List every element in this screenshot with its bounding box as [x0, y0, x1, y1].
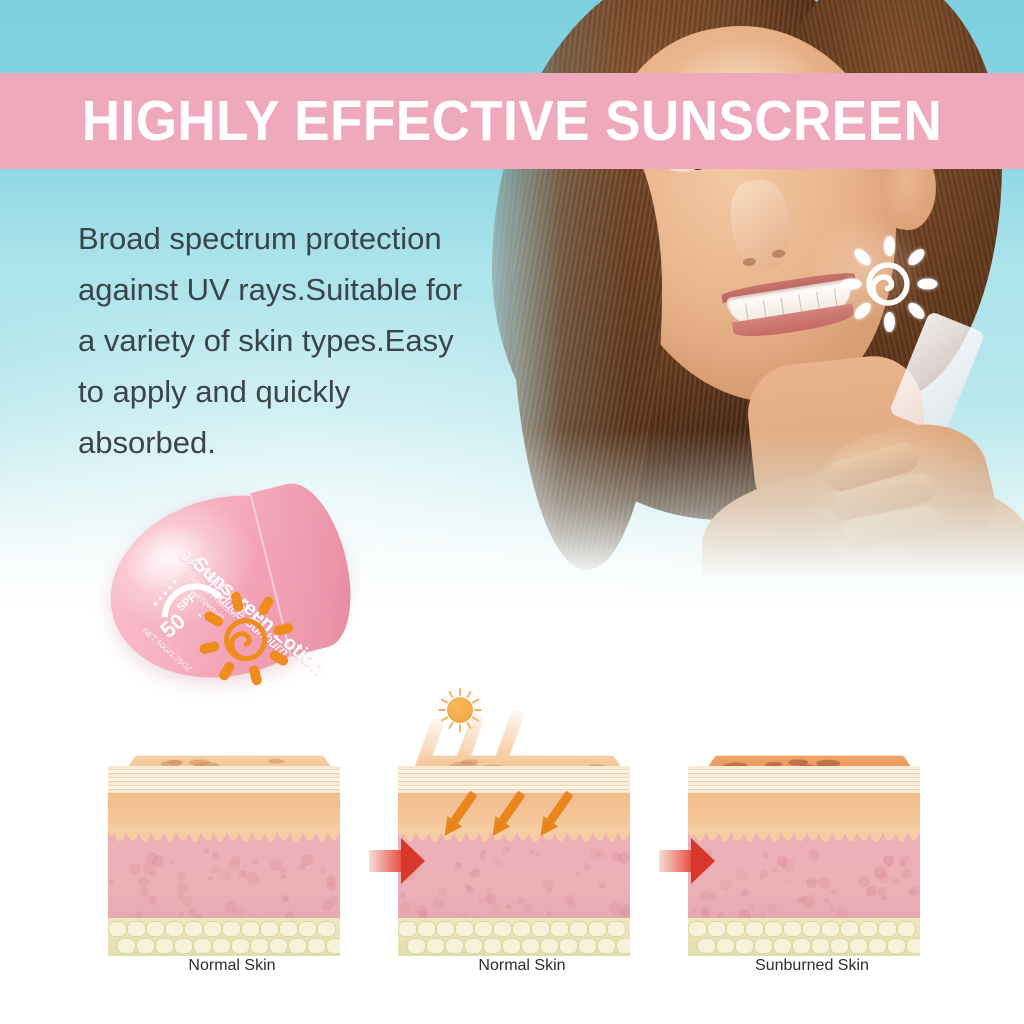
sun-logo-ray	[272, 622, 294, 637]
skin-diagram-uv-exposure	[398, 732, 646, 954]
dermis-cell	[478, 898, 484, 904]
dermis-cell	[320, 868, 326, 874]
fat-cell	[269, 938, 288, 954]
fat-cell	[540, 938, 559, 954]
subcutaneous-fat-layer	[108, 918, 340, 956]
fat-cell	[597, 938, 616, 954]
dermis-cell	[567, 899, 577, 909]
dermis-cell	[759, 876, 764, 881]
sun-logo-ray	[230, 591, 245, 613]
fat-cell	[811, 938, 830, 954]
fat-cell	[326, 938, 340, 954]
dermis-cell	[908, 885, 920, 897]
fat-cell	[455, 921, 474, 937]
sun-ray	[448, 690, 454, 698]
dermis-cell	[301, 854, 313, 866]
dermis-cell	[415, 905, 427, 917]
fat-cell	[407, 938, 426, 954]
fat-cell	[830, 938, 849, 954]
dermis-cell	[251, 862, 255, 866]
dermis-cell	[799, 896, 806, 903]
sun-ray	[459, 724, 461, 732]
fat-cell	[697, 938, 716, 954]
fat-cell	[146, 921, 165, 937]
fat-cell	[117, 938, 136, 954]
fat-cell	[288, 938, 307, 954]
dermis-cell	[280, 867, 287, 874]
diagram-label-3: Sunburned Skin	[688, 957, 936, 975]
dermis-cell	[492, 903, 500, 911]
sun-logo-ray	[248, 664, 263, 686]
dermis-cell	[901, 855, 909, 863]
fat-cell	[887, 938, 906, 954]
dermis-cell	[109, 880, 114, 885]
dermis-cell	[229, 859, 240, 870]
description-line-3: a variety of skin types.Easy	[78, 315, 518, 366]
dermis-cell	[858, 875, 870, 887]
fat-cell	[298, 921, 317, 937]
fat-cell	[108, 921, 127, 937]
dermis-cell	[772, 866, 778, 872]
dermis-cell	[787, 879, 791, 883]
dermis-cell	[400, 901, 412, 913]
dermal-junction	[108, 826, 340, 852]
dermis-cell	[517, 897, 525, 905]
dermis-cell	[736, 869, 748, 881]
skin-cross-section	[108, 766, 340, 956]
fat-cell	[512, 921, 531, 937]
dermis-cell	[700, 907, 711, 918]
sun-ray	[448, 722, 454, 730]
fat-cell	[773, 938, 792, 954]
dermis-cell	[225, 901, 237, 913]
description-line-1: Broad spectrum protection	[78, 213, 518, 264]
stratum-corneum-layer	[688, 766, 920, 793]
product-bottle: JAYSUING Sunscreen Lotion Reduce Sunburn…	[104, 487, 356, 692]
dermis-cell	[437, 887, 446, 896]
sun-ray	[438, 709, 446, 711]
fat-cell	[317, 921, 336, 937]
fat-cell	[840, 921, 859, 937]
progression-arrow	[659, 838, 715, 884]
subcutaneous-fat-layer	[688, 918, 920, 956]
dermis-cell	[170, 859, 175, 864]
dermis-cell	[282, 895, 289, 902]
fat-cell	[550, 921, 569, 937]
fat-cell	[521, 938, 540, 954]
fat-cell	[726, 921, 745, 937]
dermis-cell	[767, 904, 777, 914]
dermis-cell	[818, 877, 830, 889]
dermis-cell	[782, 859, 795, 872]
sun-ray	[440, 698, 448, 704]
fat-cell	[307, 938, 326, 954]
sun-ray	[459, 688, 461, 696]
dermis-cell	[523, 904, 533, 914]
fat-cell	[849, 938, 868, 954]
fat-cell	[878, 921, 897, 937]
fat-cell	[127, 921, 146, 937]
cream-sun-ray	[918, 279, 938, 290]
fat-cell	[688, 921, 707, 937]
subcutaneous-fat-layer	[398, 918, 630, 956]
dermis-cell	[901, 868, 912, 879]
fat-cell	[417, 921, 436, 937]
fat-cell	[483, 938, 502, 954]
dermis-cell	[806, 877, 817, 888]
skin-cross-section	[398, 766, 630, 956]
dermis-cell	[487, 887, 492, 892]
fat-cell	[203, 921, 222, 937]
diagram-label-1: Normal Skin	[108, 957, 356, 975]
fat-cell	[616, 938, 630, 954]
dermis-cell	[831, 889, 837, 895]
dermis-cell	[211, 865, 220, 874]
dermis-cell	[208, 876, 213, 881]
fat-cell	[398, 921, 417, 937]
skin-diagram-normal	[108, 732, 356, 954]
diagram-label-2: Normal Skin	[398, 957, 646, 975]
dermis-cell	[466, 886, 472, 892]
fat-cell	[859, 921, 878, 937]
fat-cell	[155, 938, 174, 954]
dermis-cell	[583, 863, 591, 871]
fat-cell	[474, 921, 493, 937]
fat-cell	[260, 921, 279, 937]
dermis-cell	[720, 879, 732, 891]
dermis-cell	[140, 887, 149, 896]
fat-cell	[193, 938, 212, 954]
dermis-cell	[138, 876, 149, 887]
fat-cell	[426, 938, 445, 954]
dermis-cell	[326, 876, 336, 886]
fat-cell	[745, 921, 764, 937]
dermis-cell	[179, 912, 184, 917]
fat-cell	[821, 921, 840, 937]
fat-cell	[212, 938, 231, 954]
fat-cell	[716, 938, 735, 954]
skin-surface-spot	[268, 759, 286, 764]
cream-sun-ray	[884, 236, 895, 256]
stratum-corneum-layer	[108, 766, 340, 793]
dermis-cell	[749, 904, 754, 909]
fat-cell	[493, 921, 512, 937]
dermis-cell	[506, 904, 511, 909]
dermis-cell	[599, 883, 605, 889]
sun-ray	[472, 698, 480, 704]
fat-cell	[754, 938, 773, 954]
description-line-2: against UV rays.Suitable for	[78, 264, 518, 315]
fat-cell	[174, 938, 193, 954]
dermis-cell	[177, 872, 186, 881]
dermis-cell	[177, 892, 184, 899]
description-line-5: absorbed.	[78, 417, 518, 468]
dermis-cell	[400, 892, 406, 898]
fat-cell	[588, 921, 607, 937]
page-title: HIGHLY EFFECTIVE SUNSCREEN	[36, 73, 988, 169]
fat-cell	[165, 921, 184, 937]
dermis-cell	[237, 907, 246, 916]
skin-diagram-sunburned	[688, 732, 936, 954]
sun-cream-shape-icon	[842, 238, 934, 330]
dermis-cell	[485, 893, 496, 904]
fat-cell	[802, 921, 821, 937]
dermis-cell	[874, 866, 887, 879]
skin-cross-section	[688, 766, 920, 956]
dermis-cell	[546, 911, 552, 917]
fat-cell	[764, 921, 783, 937]
dermis-cell	[129, 863, 141, 875]
dermis-cell	[182, 896, 193, 907]
fat-cell	[250, 938, 269, 954]
spiral-icon	[213, 607, 278, 672]
progression-arrow	[369, 838, 425, 884]
dermis-cell	[329, 896, 339, 906]
fat-cell	[231, 938, 250, 954]
fat-cell	[868, 938, 887, 954]
fat-cell	[436, 921, 455, 937]
dermis-cell	[892, 877, 901, 886]
dermis-cell	[148, 896, 157, 905]
dermis-cell	[479, 853, 486, 860]
dermis-cell	[220, 870, 231, 881]
cream-sun-ray	[884, 312, 895, 332]
description-text: Broad spectrum protection against UV ray…	[78, 213, 518, 468]
dermis-cell	[762, 851, 769, 858]
dermis-cell	[611, 852, 621, 862]
sun-ray	[466, 690, 472, 698]
dermis-cell	[547, 888, 552, 893]
headline-banner: HIGHLY EFFECTIVE SUNSCREEN	[0, 73, 1024, 169]
dermis-cell	[212, 852, 219, 859]
sun-ray	[474, 709, 482, 711]
dermis-cell	[246, 872, 259, 885]
dermis-cell	[883, 855, 894, 866]
fat-cell	[897, 921, 916, 937]
dermis-cell	[494, 858, 502, 866]
dermis-cell	[830, 907, 835, 912]
fat-cell	[906, 938, 920, 954]
fat-cell	[707, 921, 726, 937]
cream-spiral-icon	[861, 257, 915, 311]
description-line-4: to apply and quickly	[78, 366, 518, 417]
dermal-junction	[688, 826, 920, 852]
fat-cell	[607, 921, 626, 937]
fat-cell	[502, 938, 521, 954]
fat-cell	[559, 938, 578, 954]
fat-cell	[792, 938, 811, 954]
sun-logo-ray	[199, 640, 221, 655]
fat-cell	[184, 921, 203, 937]
fat-cell	[569, 921, 588, 937]
fat-cell	[578, 938, 597, 954]
dermis-cell	[619, 904, 630, 916]
dermis-cell	[691, 908, 697, 914]
dermis-cell	[741, 889, 749, 897]
fat-cell	[241, 921, 260, 937]
fat-cell	[464, 938, 483, 954]
dermis-cell	[536, 852, 541, 857]
dermis-cell	[150, 871, 156, 877]
fat-cell	[783, 921, 802, 937]
cream-sun-ray	[842, 279, 862, 290]
dermis-cell	[881, 895, 887, 901]
fat-cell	[735, 938, 754, 954]
dermis-cell	[281, 874, 286, 879]
dermis-cell	[824, 898, 829, 903]
dermis-cell	[189, 908, 196, 915]
dermis-cell	[472, 868, 481, 877]
dermal-junction	[398, 826, 630, 852]
dermis-cell	[708, 892, 716, 900]
dermis-cell	[455, 862, 462, 869]
fat-cell	[222, 921, 241, 937]
dermis-cell	[866, 886, 877, 897]
dermis-cell	[576, 871, 581, 876]
sunscreen-product-ad: HIGHLY EFFECTIVE SUNSCREEN Broad spectru…	[0, 0, 1024, 1024]
fat-cell	[531, 921, 550, 937]
dermis-cell	[433, 898, 444, 909]
fat-cell	[136, 938, 155, 954]
fat-cell	[279, 921, 298, 937]
fat-cell	[445, 938, 464, 954]
